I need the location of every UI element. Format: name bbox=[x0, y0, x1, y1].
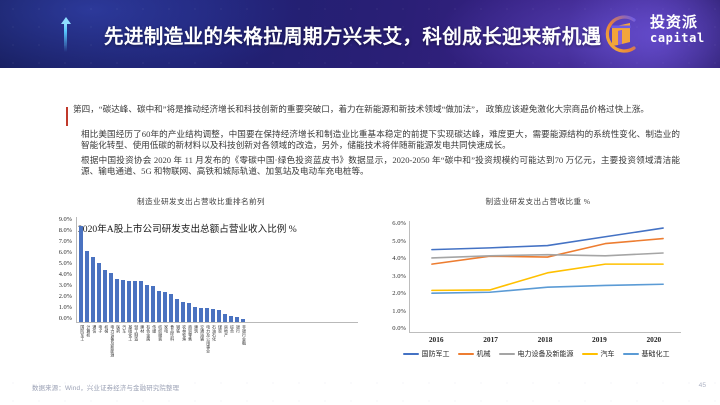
y-tick-label: 4.0% bbox=[59, 272, 72, 279]
bar bbox=[181, 302, 185, 322]
legend-label: 机械 bbox=[477, 349, 491, 359]
line-chart-x-axis: 20162017201820192020 bbox=[409, 335, 681, 344]
legend-label: 汽车 bbox=[601, 349, 615, 359]
legend-swatch bbox=[582, 353, 598, 355]
legend-item: 机械 bbox=[458, 349, 491, 359]
bullet-list: 第四，“碳达峰、碳中和”将是推动经济增长和科技创新的重要突破口，着力在新能源和新… bbox=[66, 104, 680, 181]
x-tick-label: 电力及公用事业 bbox=[206, 325, 210, 367]
bar bbox=[187, 303, 191, 322]
bar bbox=[217, 310, 221, 322]
bullet-text: 相比美国经历了60年的产业结构调整，中国要在保持经济增长和制造业比重基本稳定的前… bbox=[75, 129, 680, 152]
x-tick-label: 机械 bbox=[104, 325, 108, 367]
x-tick-label: 商贸零售 bbox=[188, 325, 192, 367]
legend-swatch bbox=[623, 353, 639, 355]
line-chart-y-axis: 6.0%5.0%4.0%3.0%2.0%1.0%0.0% bbox=[378, 221, 406, 333]
bar bbox=[79, 226, 83, 322]
y-tick-label: 3.0% bbox=[392, 274, 406, 281]
legend-swatch bbox=[499, 353, 515, 355]
x-tick-label: 钢铁 bbox=[176, 325, 180, 367]
x-tick-label: 食品饮料 bbox=[170, 325, 174, 367]
pi-circle-logo-icon bbox=[598, 11, 644, 57]
y-tick-label: 5.0% bbox=[392, 239, 406, 246]
x-tick-label: 交通运输 bbox=[200, 325, 204, 367]
legend-item: 基础化工 bbox=[623, 349, 670, 359]
line-series bbox=[432, 284, 663, 293]
slide-root: 先进制造业的朱格拉周期方兴未艾，科创成长迎来新机遇 投资派 capital bbox=[0, 0, 720, 405]
x-tick-label: 2017 bbox=[463, 335, 517, 344]
y-tick-label: 1.0% bbox=[392, 309, 406, 316]
y-tick-label: 1.0% bbox=[59, 305, 72, 312]
x-tick-label: 基础化工 bbox=[128, 325, 132, 367]
y-tick-label: 7.0% bbox=[59, 239, 72, 246]
line-chart-plot bbox=[409, 221, 681, 333]
bar bbox=[223, 314, 227, 322]
x-tick-label: 农林牧渔 bbox=[182, 325, 186, 367]
y-tick-label: 5.0% bbox=[59, 261, 72, 268]
source-note: 数据来源：Wind，兴业证券经济与金融研究院整理 bbox=[32, 383, 179, 392]
x-tick-label: 计算机 bbox=[86, 325, 90, 367]
legend-item: 国防军工 bbox=[403, 349, 450, 359]
y-tick-label: 3.0% bbox=[59, 283, 72, 290]
y-tick-label: 6.0% bbox=[59, 250, 72, 257]
y-tick-label: 0.0% bbox=[59, 316, 72, 323]
x-tick-label: 汽车 bbox=[122, 325, 126, 367]
x-tick-label: 综合 bbox=[230, 325, 234, 367]
bullet-item-3: 根据中国投资协会 2020 年 11 月发布的《零碳中国·绿色投资蓝皮书》数据显… bbox=[66, 155, 680, 178]
bar bbox=[241, 319, 245, 323]
y-tick-label: 2.0% bbox=[392, 291, 406, 298]
x-tick-label: 通信 bbox=[92, 325, 96, 367]
bar bbox=[169, 294, 173, 322]
hollow-square-bullet-icon bbox=[66, 108, 68, 126]
bar bbox=[121, 280, 125, 322]
legend-item: 电力设备及新能源 bbox=[499, 349, 574, 359]
up-arrow-icon bbox=[64, 22, 67, 52]
legend-label: 国防军工 bbox=[422, 349, 450, 359]
x-tick-label: 2016 bbox=[409, 335, 463, 344]
bar-chart-x-axis: 国防军工计算机通信电子机械电力设备及新能源医药汽车基础化工轻工制造建材有色金属传… bbox=[78, 325, 360, 367]
x-tick-label: 电子 bbox=[98, 325, 102, 367]
bar bbox=[85, 251, 89, 322]
y-tick-label: 4.0% bbox=[392, 256, 406, 263]
brand-logo: 投资派 capital bbox=[598, 8, 710, 60]
line-chart: 制造业研发支出占营收比重 % 6.0%5.0%4.0%3.0%2.0%1.0%0… bbox=[378, 196, 698, 374]
bar-chart-plot bbox=[76, 217, 358, 323]
slide-header: 先进制造业的朱格拉周期方兴未艾，科创成长迎来新机遇 投资派 capital bbox=[0, 0, 720, 68]
line-chart-caption: 制造业研发支出占营收比重 % bbox=[378, 196, 698, 207]
logo-text-cn: 投资派 bbox=[650, 14, 705, 31]
bullet-text: 第四，“碳达峰、碳中和”将是推动经济增长和科技创新的重要突破口，着力在新能源和新… bbox=[73, 104, 680, 115]
bar-chart: 制造业研发支出占营收比重排名前列 2020年A股上市公司研发支出总额占营业收入比… bbox=[36, 196, 366, 374]
x-tick-label: 国防军工 bbox=[80, 325, 84, 367]
bar bbox=[103, 270, 107, 323]
bar bbox=[109, 273, 113, 322]
bar bbox=[175, 299, 179, 322]
x-tick-label: 石油石化 bbox=[212, 325, 216, 367]
line-series bbox=[432, 239, 663, 265]
x-tick-label: 轻工制造 bbox=[134, 325, 138, 367]
page-title: 先进制造业的朱格拉周期方兴未艾，科创成长迎来新机遇 bbox=[104, 20, 602, 49]
x-tick-label: 银行 bbox=[236, 325, 240, 367]
x-tick-label: 建筑 bbox=[194, 325, 198, 367]
charts-region: 制造业研发支出占营收比重排名前列 2020年A股上市公司研发支出总额占营业收入比… bbox=[0, 196, 720, 376]
x-tick-label: 煤炭 bbox=[218, 325, 222, 367]
x-tick-label: 2018 bbox=[518, 335, 572, 344]
bar bbox=[205, 308, 209, 322]
bar bbox=[145, 285, 149, 322]
bar-chart-caption: 制造业研发支出占营收比重排名前列 bbox=[36, 196, 366, 207]
x-tick-label: 房地产 bbox=[224, 325, 228, 367]
x-tick-label: 非银行金融 bbox=[242, 325, 246, 367]
x-tick-label: 电力设备及新能源 bbox=[110, 325, 114, 367]
x-tick-label: 纺织服装 bbox=[158, 325, 162, 367]
x-tick-label: 传媒 bbox=[152, 325, 156, 367]
bar bbox=[139, 281, 143, 322]
bar bbox=[199, 308, 203, 322]
line-series bbox=[432, 228, 663, 250]
x-tick-label: 2020 bbox=[627, 335, 681, 344]
legend-swatch bbox=[458, 353, 474, 355]
bullet-item-1: 第四，“碳达峰、碳中和”将是推动经济增长和科技创新的重要突破口，着力在新能源和新… bbox=[66, 104, 680, 126]
logo-text-en: capital bbox=[650, 31, 705, 46]
legend-item: 汽车 bbox=[582, 349, 615, 359]
bar bbox=[211, 309, 215, 322]
bar bbox=[115, 279, 119, 322]
legend-swatch bbox=[403, 353, 419, 355]
x-tick-label: 2019 bbox=[572, 335, 626, 344]
legend-label: 基础化工 bbox=[642, 349, 670, 359]
x-tick-label: 有色金属 bbox=[146, 325, 150, 367]
bar bbox=[235, 317, 239, 322]
bar bbox=[229, 316, 233, 322]
bar bbox=[127, 281, 131, 322]
legend-label: 电力设备及新能源 bbox=[518, 349, 574, 359]
bar bbox=[193, 307, 197, 322]
y-tick-label: 2.0% bbox=[59, 294, 72, 301]
bar bbox=[157, 291, 161, 323]
bullet-text: 根据中国投资协会 2020 年 11 月发布的《零碳中国·绿色投资蓝皮书》数据显… bbox=[75, 155, 680, 178]
y-tick-label: 9.0% bbox=[59, 217, 72, 224]
y-tick-label: 6.0% bbox=[392, 221, 406, 228]
y-tick-label: 8.0% bbox=[59, 228, 72, 235]
bar bbox=[163, 292, 167, 322]
bar-chart-y-axis: 9.0%8.0%7.0%6.0%5.0%4.0%3.0%2.0%1.0%0.0% bbox=[42, 217, 72, 323]
bar bbox=[97, 263, 101, 323]
bar bbox=[91, 257, 95, 322]
x-tick-label: 家电 bbox=[164, 325, 168, 367]
line-chart-legend: 国防军工机械电力设备及新能源汽车基础化工 bbox=[380, 349, 692, 359]
bullet-item-2: 相比美国经历了60年的产业结构调整，中国要在保持经济增长和制造业比重基本稳定的前… bbox=[66, 129, 680, 152]
x-tick-label: 医药 bbox=[116, 325, 120, 367]
x-tick-label: 建材 bbox=[140, 325, 144, 367]
bar bbox=[133, 281, 137, 322]
bar bbox=[151, 286, 155, 322]
y-tick-label: 0.0% bbox=[392, 326, 406, 333]
page-number: 45 bbox=[699, 382, 706, 389]
